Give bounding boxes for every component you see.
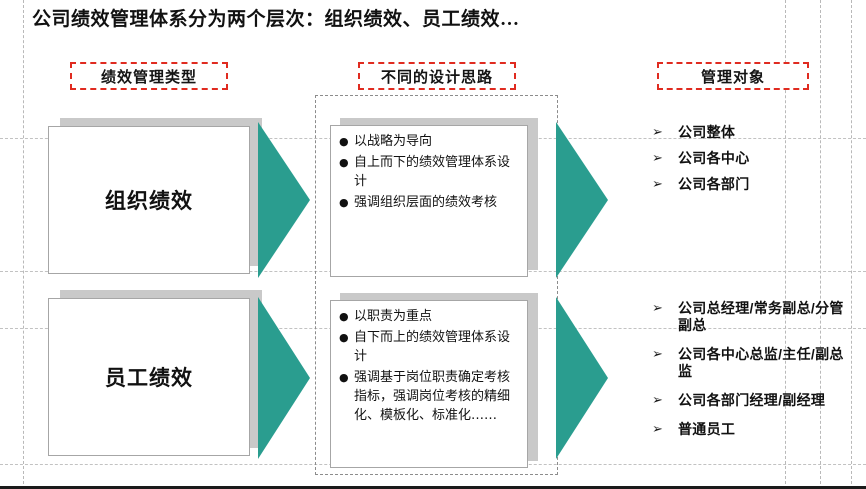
guide-vertical-1 bbox=[23, 0, 24, 489]
slide-canvas: 公司绩效管理体系分为两个层次：组织绩效、员工绩效… 绩效管理类型 不同的设计思路… bbox=[0, 0, 866, 489]
guide-vertical-4 bbox=[851, 0, 852, 489]
ideas-bullet-list: 以战略为导向 自上而下的绩效管理体系设计 强调组织层面的绩效考核 bbox=[331, 126, 527, 212]
right-arrow-icon bbox=[556, 122, 608, 278]
list-item: 公司各中心 bbox=[650, 150, 850, 167]
list-item: 自下而上的绩效管理体系设计 bbox=[339, 328, 519, 366]
list-item: 以战略为导向 bbox=[339, 132, 519, 151]
type-card-label: 员工绩效 bbox=[49, 299, 249, 455]
type-card-organizational[interactable]: 组织绩效 bbox=[48, 126, 250, 274]
column-header-management-object: 管理对象 bbox=[657, 62, 809, 90]
list-item: 公司各部门经理/副经理 bbox=[650, 392, 850, 409]
page-title: 公司绩效管理体系分为两个层次：组织绩效、员工绩效… bbox=[32, 4, 520, 31]
ideas-bullet-list: 以职责为重点 自下而上的绩效管理体系设计 强调基于岗位职责确定考核指标，强调岗位… bbox=[331, 301, 527, 425]
object-list-employee: 公司总经理/常务副总/分管副总 公司各中心总监/主任/副总监 公司各部门经理/副… bbox=[650, 300, 850, 450]
list-item: 以职责为重点 bbox=[339, 307, 519, 326]
object-list-organizational: 公司整体 公司各中心 公司各部门 bbox=[650, 124, 850, 202]
ideas-card-organizational[interactable]: 以战略为导向 自上而下的绩效管理体系设计 强调组织层面的绩效考核 bbox=[330, 125, 528, 277]
list-item: 强调组织层面的绩效考核 bbox=[339, 193, 519, 212]
ideas-card-employee[interactable]: 以职责为重点 自下而上的绩效管理体系设计 强调基于岗位职责确定考核指标，强调岗位… bbox=[330, 300, 528, 468]
column-header-performance-type: 绩效管理类型 bbox=[70, 62, 228, 90]
right-arrow-icon bbox=[258, 122, 310, 278]
list-item: 公司各部门 bbox=[650, 176, 850, 193]
type-card-label: 组织绩效 bbox=[49, 127, 249, 273]
list-item: 自上而下的绩效管理体系设计 bbox=[339, 153, 519, 191]
list-item: 公司各中心总监/主任/副总监 bbox=[650, 346, 850, 380]
type-card-employee[interactable]: 员工绩效 bbox=[48, 298, 250, 456]
list-item: 公司整体 bbox=[650, 124, 850, 141]
list-item: 公司总经理/常务副总/分管副总 bbox=[650, 300, 850, 334]
list-item: 强调基于岗位职责确定考核指标，强调岗位考核的精细化、模板化、标准化…… bbox=[339, 368, 519, 425]
list-item: 普通员工 bbox=[650, 421, 850, 438]
column-header-design-ideas: 不同的设计思路 bbox=[358, 62, 516, 90]
right-arrow-icon bbox=[556, 297, 608, 459]
right-arrow-icon bbox=[258, 297, 310, 459]
